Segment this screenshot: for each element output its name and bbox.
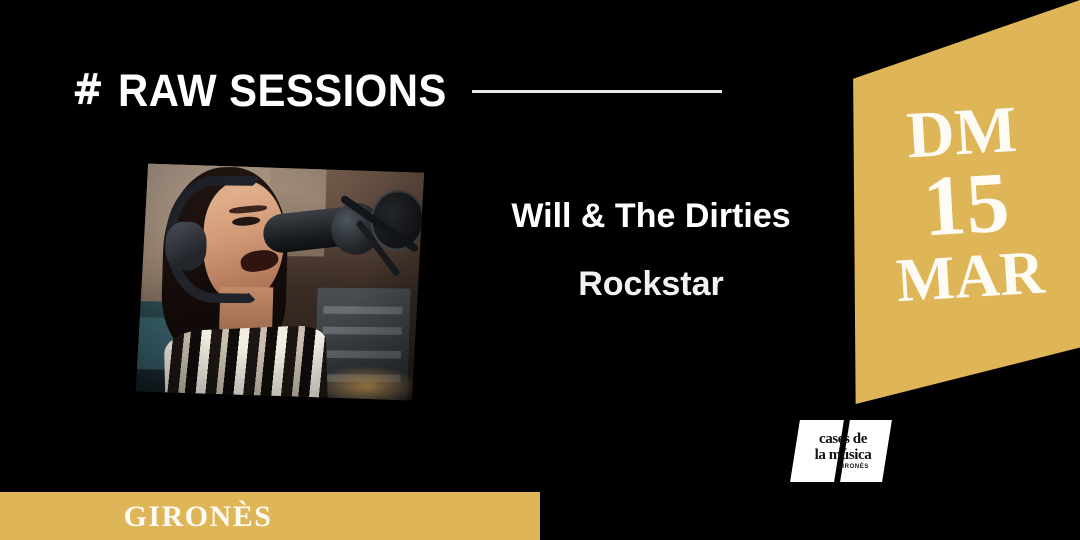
song-title: Rockstar <box>466 266 836 303</box>
performer-photo <box>136 164 424 401</box>
logo-shape-left <box>790 420 844 482</box>
footer-bar: GIRONÈS <box>0 492 540 540</box>
header: # RAW SESSIONS <box>70 62 472 118</box>
date-day-number: 15 <box>890 161 1043 250</box>
date-month-abbrev: MAR <box>895 244 1046 310</box>
cases-de-la-musica-logo: cases de la música GIRONÈS <box>793 420 893 482</box>
artist-name: Will & The Dirties <box>466 198 836 235</box>
logo-shape-right <box>840 420 892 482</box>
hashtag-icon: # <box>72 69 101 112</box>
performer-photo-content <box>136 164 424 401</box>
photo-vignette <box>136 164 424 401</box>
date-badge: DM 15 MAR <box>852 0 1080 404</box>
date-badge-inner: DM 15 MAR <box>886 97 1046 310</box>
footer-region-label: GIRONÈS <box>0 500 468 534</box>
promo-poster: # RAW SESSIONS <box>0 0 1080 540</box>
header-divider-line <box>472 90 722 93</box>
series-title: RAW SESSIONS <box>118 68 447 113</box>
